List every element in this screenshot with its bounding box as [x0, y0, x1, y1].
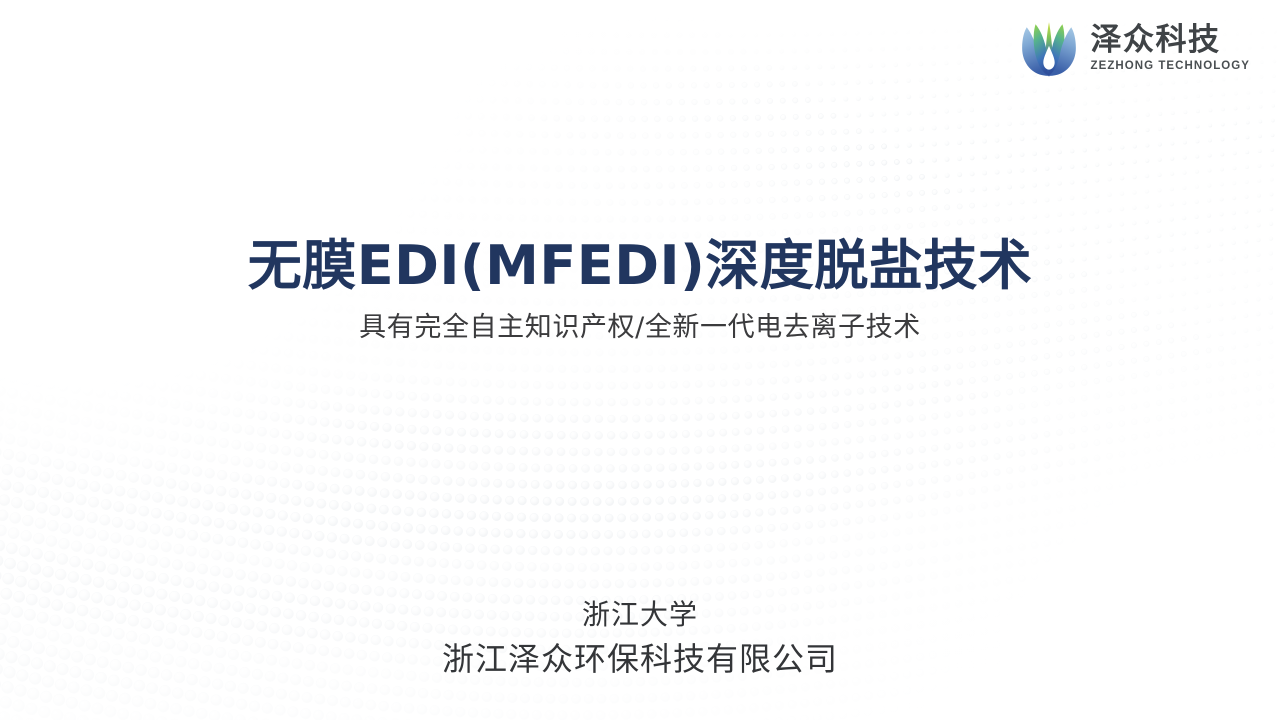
title-slide: 泽众科技 ZEZHONG TECHNOLOGY 无膜EDI(MFEDI)深度脱盐…: [0, 0, 1280, 720]
brand-name-cn: 泽众科技: [1091, 25, 1250, 56]
brand-logo: 泽众科技 ZEZHONG TECHNOLOGY: [1018, 18, 1250, 80]
brand-name-en: ZEZHONG TECHNOLOGY: [1091, 61, 1250, 73]
affiliation-organization: 浙江大学: [0, 596, 1280, 634]
affiliation-block: 浙江大学 浙江泽众环保科技有限公司: [0, 596, 1280, 681]
page-title: 无膜EDI(MFEDI)深度脱盐技术: [0, 236, 1280, 296]
brand-wordmark: 泽众科技 ZEZHONG TECHNOLOGY: [1091, 25, 1250, 73]
lotus-water-drop-icon: [1018, 18, 1080, 80]
page-subtitle: 具有完全自主知识产权/全新一代电去离子技术: [0, 312, 1280, 344]
title-block: 无膜EDI(MFEDI)深度脱盐技术 具有完全自主知识产权/全新一代电去离子技术: [0, 236, 1280, 345]
affiliation-company: 浙江泽众环保科技有限公司: [0, 638, 1280, 681]
